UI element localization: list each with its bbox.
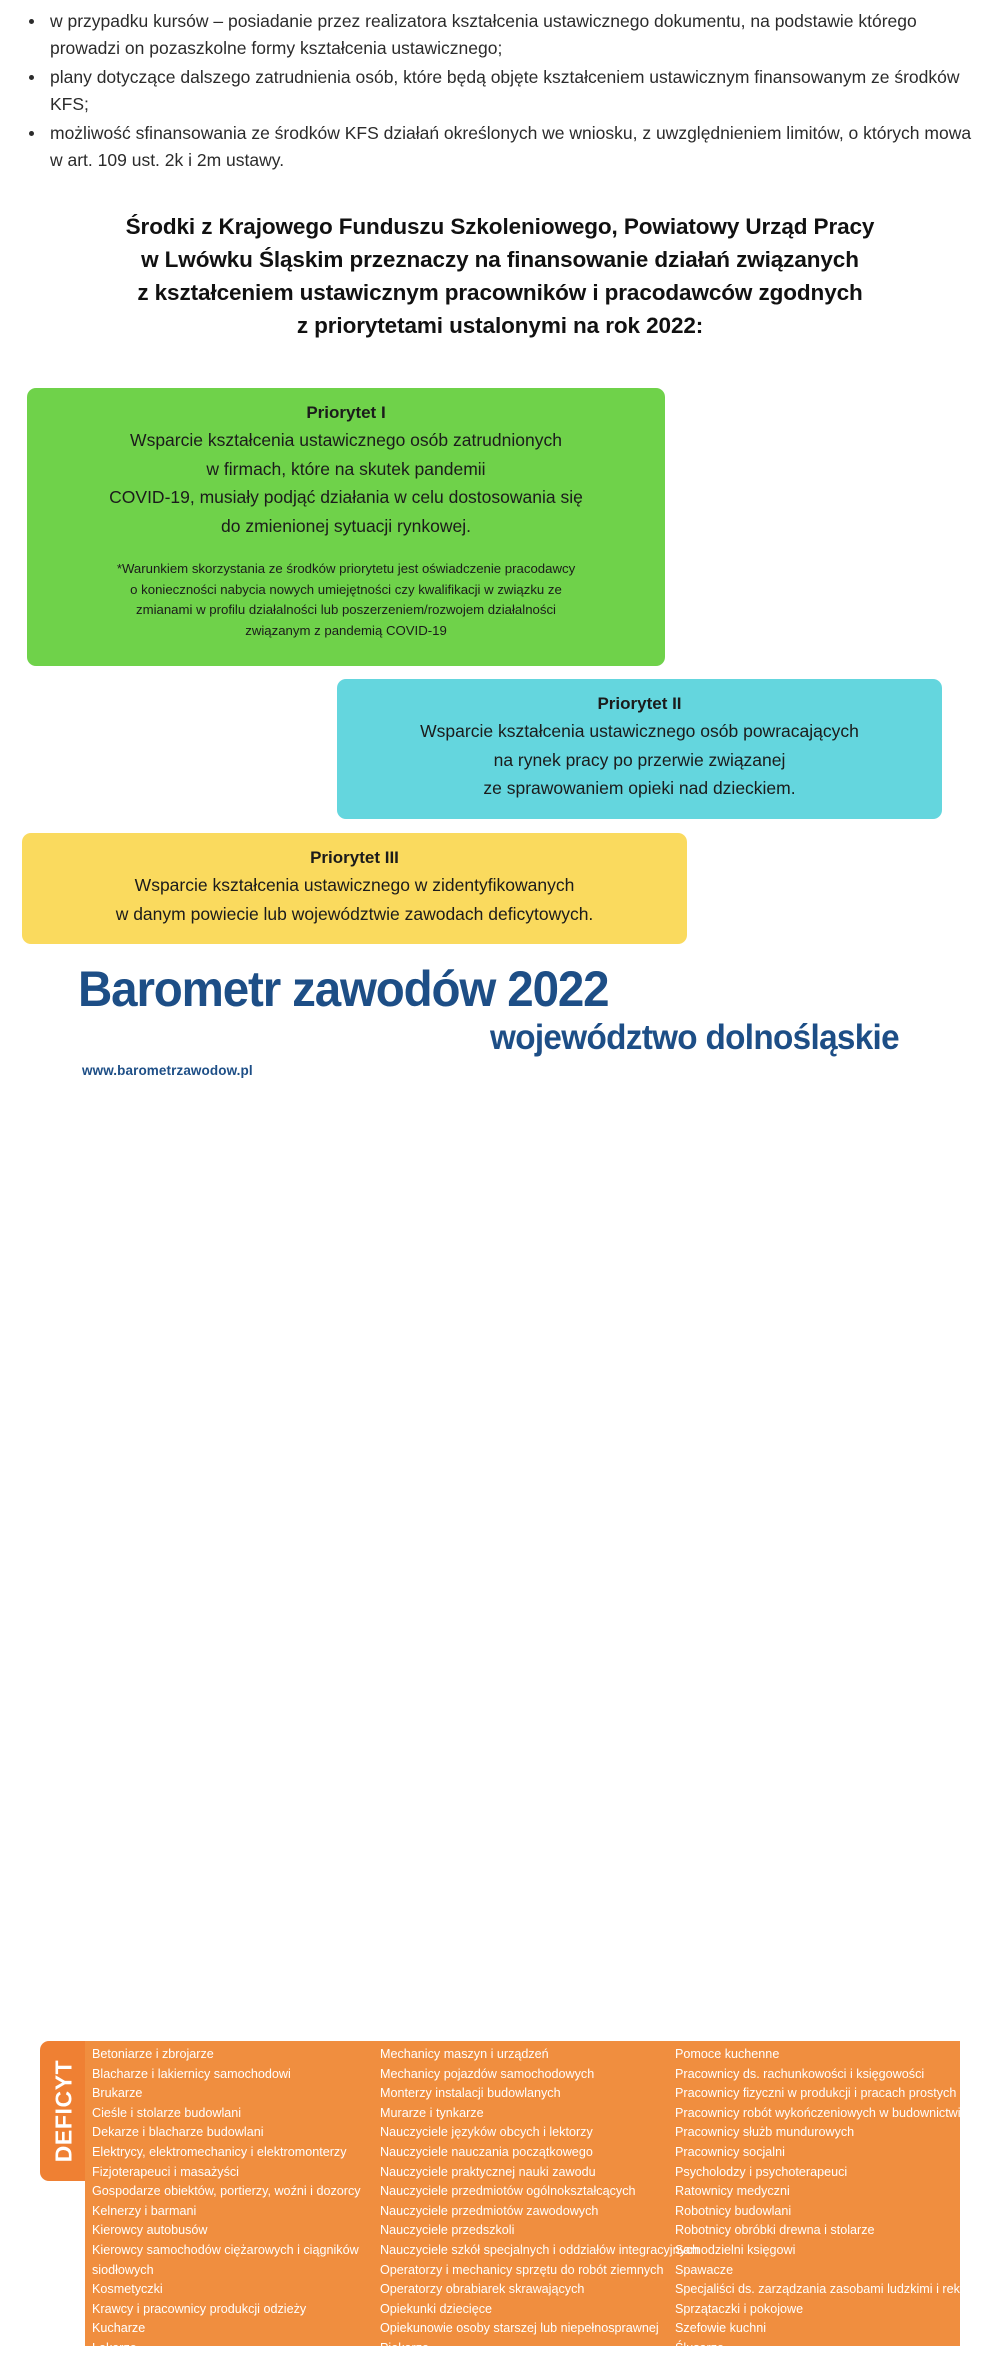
deficit-occupation-item: Pracownicy fizyczni w produkcji i pracac… <box>675 2084 960 2104</box>
deficit-occupation-item: Fizjoterapeuci i masażyści <box>92 2163 380 2183</box>
deficit-occupation-item: Pracownicy socjalni <box>675 2143 960 2163</box>
deficit-occupation-item: Krawcy i pracownicy produkcji odzieży <box>92 2300 380 2320</box>
deficit-occupation-item: Monterzy instalacji budowlanych <box>380 2084 675 2104</box>
priority-body-line: w danym powiecie lub województwie zawoda… <box>40 900 669 929</box>
deficit-occupation-item: Opiekunowie osoby starszej lub niepełnos… <box>380 2319 675 2339</box>
deficit-occupation-item: Nauczyciele nauczania początkowego <box>380 2143 675 2163</box>
deficit-occupation-item: Pomoce kuchenne <box>675 2045 960 2065</box>
deficit-occupation-item: Elektrycy, elektromechanicy i elektromon… <box>92 2143 380 2163</box>
barometr-subtitle: województwo dolnośląskie <box>490 1018 899 1058</box>
deficit-occupation-item: Brukarze <box>92 2084 380 2104</box>
priority-card-3: Priorytet III Wsparcie kształcenia ustaw… <box>22 833 687 944</box>
list-item: plany dotyczące dalszego zatrudnienia os… <box>46 64 976 118</box>
deficit-occupation-item: Operatorzy i mechanicy sprzętu do robót … <box>380 2261 675 2281</box>
priority-note-line: *Warunkiem skorzystania ze środków prior… <box>45 559 647 580</box>
deficit-occupation-item: Pielęgniarki i położne <box>380 2359 675 2378</box>
deficit-occupation-item: Samodzielni księgowi <box>675 2241 960 2261</box>
priority-body-line: do zmienionej sytuacji rynkowej. <box>45 512 647 541</box>
deficit-occupation-item: Nauczyciele przedmiotów zawodowych <box>380 2202 675 2222</box>
deficit-occupation-item: Specjaliści ds. zarządzania zasobami lud… <box>675 2280 960 2300</box>
deficit-occupation-item: Pracownicy służb mundurowych <box>675 2123 960 2143</box>
priority-card-1-body: Wsparcie kształcenia ustawicznego osób z… <box>45 426 647 540</box>
deficit-occupation-item: Lekarze <box>92 2339 380 2359</box>
priority-body-line: Wsparcie kształcenia ustawicznego osób z… <box>45 426 647 455</box>
deficit-occupation-item: Kierowcy samochodów ciężarowych i ciągni… <box>92 2241 380 2261</box>
deficit-occupation-item: Mechanicy pojazdów samochodowych <box>380 2065 675 2085</box>
priority-card-3-title: Priorytet III <box>40 845 669 870</box>
list-item: w przypadku kursów – posiadanie przez re… <box>46 8 976 62</box>
deficit-occupation-item: Murarze i tynkarze <box>380 2104 675 2124</box>
deficit-occupation-item: Nauczyciele przedszkoli <box>380 2221 675 2241</box>
deficit-occupation-item: Robotnicy budowlani <box>675 2202 960 2222</box>
deficit-occupation-item: Gospodarze obiektów, portierzy, woźni i … <box>92 2182 380 2202</box>
deficit-occupation-item: Robotnicy obróbki drewna i stolarze <box>675 2221 960 2241</box>
deficit-occupation-item: Dekarze i blacharze budowlani <box>92 2123 380 2143</box>
deficit-occupation-item: Pracownicy ds. rachunkowości i księgowoś… <box>675 2065 960 2085</box>
deficit-occupation-item: Kucharze <box>92 2319 380 2339</box>
deficit-occupation-item: Zaopatrzeniowcy i dostawcy <box>675 2359 960 2378</box>
priority-card-1-title: Priorytet I <box>45 400 647 425</box>
deficit-occupation-item: Sprzątaczki i pokojowe <box>675 2300 960 2320</box>
list-item: możliwość sfinansowania ze środków KFS d… <box>46 120 976 174</box>
priority-note-line: związanym z pandemią COVID-19 <box>45 621 647 642</box>
deficit-label-tab: DEFICYT <box>40 2041 87 2181</box>
deficit-occupation-item: Pracownicy robót wykończeniowych w budow… <box>675 2104 960 2124</box>
priority-card-2-body: Wsparcie kształcenia ustawicznego osób p… <box>355 717 924 803</box>
priority-card-1-note: *Warunkiem skorzystania ze środków prior… <box>45 559 647 641</box>
deficit-occupation-item: Blacharze i lakiernicy samochodowi <box>92 2065 380 2085</box>
priority-card-2-title: Priorytet II <box>355 691 924 716</box>
priority-body-line: w firmach, które na skutek pandemii <box>45 455 647 484</box>
barometr-website-url[interactable]: www.barometrzawodow.pl <box>82 1063 253 1078</box>
requirements-bullet-list: w przypadku kursów – posiadanie przez re… <box>0 0 1000 174</box>
page-title-line: Środki z Krajowego Funduszu Szkolenioweg… <box>18 210 982 243</box>
deficit-column-2: Mechanicy maszyn i urządzeńMechanicy poj… <box>380 2041 675 2346</box>
page-title-line: z priorytetami ustalonymi na rok 2022: <box>18 309 982 342</box>
deficit-occupation-item: Nauczyciele przedmiotów ogólnokształcący… <box>380 2182 675 2202</box>
priority-body-line: Wsparcie kształcenia ustawicznego osób p… <box>355 717 924 746</box>
page-title-line: z kształceniem ustawicznym pracowników i… <box>18 276 982 309</box>
deficit-occupation-item: Operatorzy obrabiarek skrawających <box>380 2280 675 2300</box>
priority-body-line: na rynek pracy po przerwie związanej <box>355 746 924 775</box>
deficit-occupation-item: Kelnerzy i barmani <box>92 2202 380 2222</box>
deficit-occupation-item: Mechanicy maszyn i urządzeń <box>380 2045 675 2065</box>
deficit-occupation-item: Kosmetyczki <box>92 2280 380 2300</box>
page-title-line: w Lwówku Śląskim przeznaczy na finansowa… <box>18 243 982 276</box>
deficit-occupations-table: DEFICYT Betoniarze i zbrojarzeBlacharze … <box>40 2041 960 2346</box>
deficit-column-3: Pomoce kuchennePracownicy ds. rachunkowo… <box>675 2041 960 2346</box>
deficit-occupation-item: Betoniarze i zbrojarze <box>92 2045 380 2065</box>
deficit-label: DEFICYT <box>50 2060 77 2163</box>
deficit-column-1: Betoniarze i zbrojarzeBlacharze i lakier… <box>85 2041 380 2346</box>
deficit-occupation-item: Ratownicy medyczni <box>675 2182 960 2202</box>
priority-note-line: zmianami w profilu działalności lub posz… <box>45 600 647 621</box>
deficit-occupation-item: Magazynierzy <box>92 2359 380 2378</box>
deficit-occupation-item: Nauczyciele praktycznej nauki zawodu <box>380 2163 675 2183</box>
priority-card-3-body: Wsparcie kształcenia ustawicznego w zide… <box>40 871 669 928</box>
deficit-occupation-item: siodłowych <box>92 2261 380 2281</box>
barometr-title: Barometr zawodów 2022 <box>78 960 608 1018</box>
deficit-occupation-item: Spawacze <box>675 2261 960 2281</box>
deficit-occupation-item: Nauczyciele szkół specjalnych i oddziałó… <box>380 2241 675 2261</box>
deficit-occupation-item: Cieśle i stolarze budowlani <box>92 2104 380 2124</box>
page-title: Środki z Krajowego Funduszu Szkolenioweg… <box>18 210 982 342</box>
priority-body-line: Wsparcie kształcenia ustawicznego w zide… <box>40 871 669 900</box>
deficit-occupation-item: Ślusarze <box>675 2339 960 2359</box>
deficit-occupation-item: Kierowcy autobusów <box>92 2221 380 2241</box>
priority-note-line: o konieczności nabycia nowych umiejętnoś… <box>45 580 647 601</box>
deficit-occupation-item: Psycholodzy i psychoterapeuci <box>675 2163 960 2183</box>
barometr-banner: Barometr zawodów 2022 województwo dolnoś… <box>0 950 1000 1414</box>
deficit-occupation-item: Piekarze <box>380 2339 675 2359</box>
deficit-occupation-item: Szefowie kuchni <box>675 2319 960 2339</box>
deficit-columns: Betoniarze i zbrojarzeBlacharze i lakier… <box>85 2041 960 2346</box>
deficit-occupation-item: Nauczyciele języków obcych i lektorzy <box>380 2123 675 2143</box>
priority-card-2: Priorytet II Wsparcie kształcenia ustawi… <box>337 679 942 819</box>
priority-card-1: Priorytet I Wsparcie kształcenia ustawic… <box>27 388 665 666</box>
priority-body-line: COVID-19, musiały podjąć działania w cel… <box>45 483 647 512</box>
priority-body-line: ze sprawowaniem opieki nad dzieckiem. <box>355 774 924 803</box>
deficit-occupation-item: Opiekunki dziecięce <box>380 2300 675 2320</box>
